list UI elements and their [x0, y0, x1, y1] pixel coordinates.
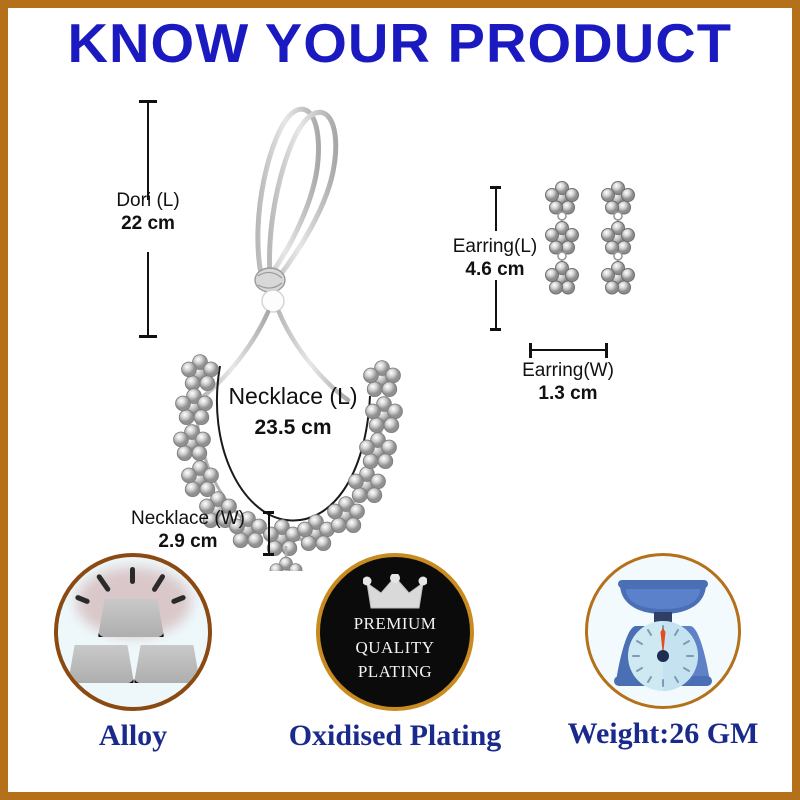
alloy-caption: Alloy: [8, 719, 258, 753]
alloy-badge-circle: [54, 553, 212, 711]
weight-caption: Weight:26 GM: [538, 717, 788, 751]
necklace-image: [158, 96, 458, 571]
plating-caption: Oxidised Plating: [270, 719, 520, 753]
weight-badge-circle: [585, 553, 741, 709]
seal-line-3: PLATING: [354, 660, 437, 684]
dimension-necklace-length: Necklace (L) 23.5 cm: [203, 383, 383, 444]
earring-width-value: 1.3 cm: [508, 382, 628, 407]
earring-length-line-upper: [495, 188, 497, 231]
necklace-width-name: Necklace (W): [118, 508, 258, 530]
plating-seal-text: PREMIUM QUALITY PLATING: [354, 612, 437, 684]
necklace-length-value: 23.5 cm: [203, 411, 383, 445]
earring-width-name: Earring(W): [508, 360, 628, 382]
badge-plating[interactable]: PREMIUM QUALITY PLATING Oxidised Plating: [270, 553, 520, 753]
dori-line-upper: [147, 102, 149, 200]
kitchen-scale-icon: [588, 556, 738, 706]
title-bar: KNOW YOUR PRODUCT: [8, 12, 792, 74]
necklace-width-line: [268, 513, 270, 555]
necklace-svg: [158, 96, 458, 571]
earring-length-line-lower: [495, 280, 497, 330]
plating-badge-circle: PREMIUM QUALITY PLATING: [316, 553, 474, 711]
badge-weight[interactable]: Weight:26 GM: [538, 553, 788, 751]
earrings-svg: [528, 173, 668, 338]
earrings-image: [528, 173, 668, 338]
dori-cap-bottom: [139, 335, 157, 338]
feature-badges: Alloy PREMIUM QUALITY PLATING Oxidised P…: [8, 553, 792, 788]
dori-line-lower: [147, 252, 149, 337]
crown-icon: [363, 574, 427, 610]
earring-width-line: [531, 349, 607, 351]
ingot-bottom-right: [134, 645, 200, 683]
seal-line-1: PREMIUM: [354, 612, 437, 636]
necklace-width-value: 2.9 cm: [118, 530, 258, 555]
earring-width-label: Earring(W) 1.3 cm: [508, 360, 628, 407]
earring-width-cap-right: [605, 343, 608, 358]
page-title: KNOW YOUR PRODUCT: [68, 16, 733, 71]
seal-line-2: QUALITY: [354, 636, 437, 660]
earring-length-cap-bottom: [490, 328, 501, 331]
necklace-length-name: Necklace (L): [203, 383, 383, 411]
ingot-bottom-left: [68, 645, 134, 683]
badge-alloy[interactable]: Alloy: [8, 553, 258, 753]
sparkle-2: [130, 567, 135, 584]
ingot-top: [98, 599, 164, 637]
product-infographic: KNOW YOUR PRODUCT Dori (L) 22 cm: [0, 0, 800, 800]
necklace-width-label: Necklace (W) 2.9 cm: [118, 508, 258, 555]
